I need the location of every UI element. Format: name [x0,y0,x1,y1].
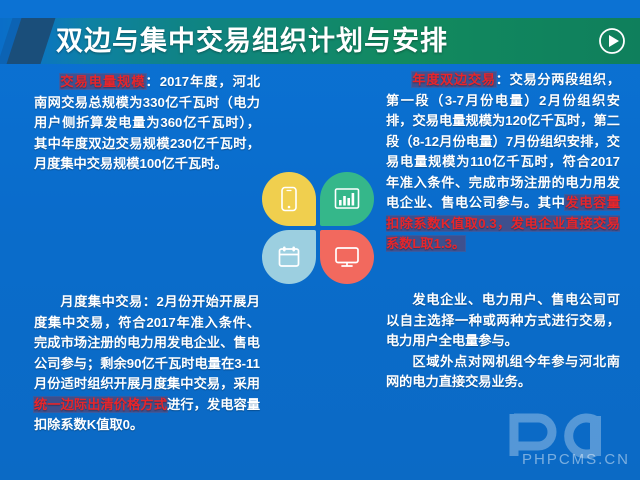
presentation-slide: 双边与集中交易组织计划与安排 交易电量规模：2017年度，河北南网交易总规模为3… [0,0,640,480]
smartphone-icon [279,186,299,212]
text-block-bottom-left: 月度集中交易：2月份开始开展月度集中交易，符合2017年准入条件、完成市场注册的… [34,292,260,436]
top-right-body: 交易分两段组织，第一段（3-7月份电量）2月份组织安排，交易电量规模为120亿千… [386,72,620,210]
text-block-bottom-right: 发电企业、电力用户、售电公司可以自主选择一种或两种方式进行交易，电力用户全电量参… [386,290,620,393]
bottom-right-paragraph-1: 发电企业、电力用户、售电公司可以自主选择一种或两种方式进行交易，电力用户全电量参… [386,290,620,352]
top-strip [0,0,640,18]
top-left-separator: ： [146,74,160,89]
monitor-icon [334,245,360,269]
petal-top-left [262,172,316,226]
calendar-icon [277,245,301,269]
petal-bottom-right [320,230,374,284]
top-right-separator: ： [496,72,510,87]
petal-top-right [320,172,374,226]
play-circle-icon[interactable] [598,27,626,55]
bottom-right-paragraph-2: 区域外点对网机组今年参与河北南网的电力直接交易业务。 [386,352,620,393]
bar-chart-icon [334,187,360,211]
watermark-text: PHPCMS.CN [522,451,630,468]
four-petal-icon-cluster [262,172,374,284]
text-block-top-right: 年度双边交易：交易分两段组织，第一段（3-7月份电量）2月份组织安排，交易电量规… [386,70,620,255]
petal-bottom-left [262,230,316,284]
bottom-left-heading: 月度集中交易 [60,294,142,309]
top-left-heading: 交易电量规模 [60,74,145,89]
bottom-left-highlight: 统一边际出清价格方式 [34,397,167,412]
page-title: 双边与集中交易组织计划与安排 [56,19,448,65]
top-right-heading: 年度双边交易 [412,72,495,87]
bottom-left-separator: ： [143,294,157,309]
text-block-top-left: 交易电量规模：2017年度，河北南网交易总规模为330亿千瓦时（电力用户侧折算发… [34,72,260,175]
